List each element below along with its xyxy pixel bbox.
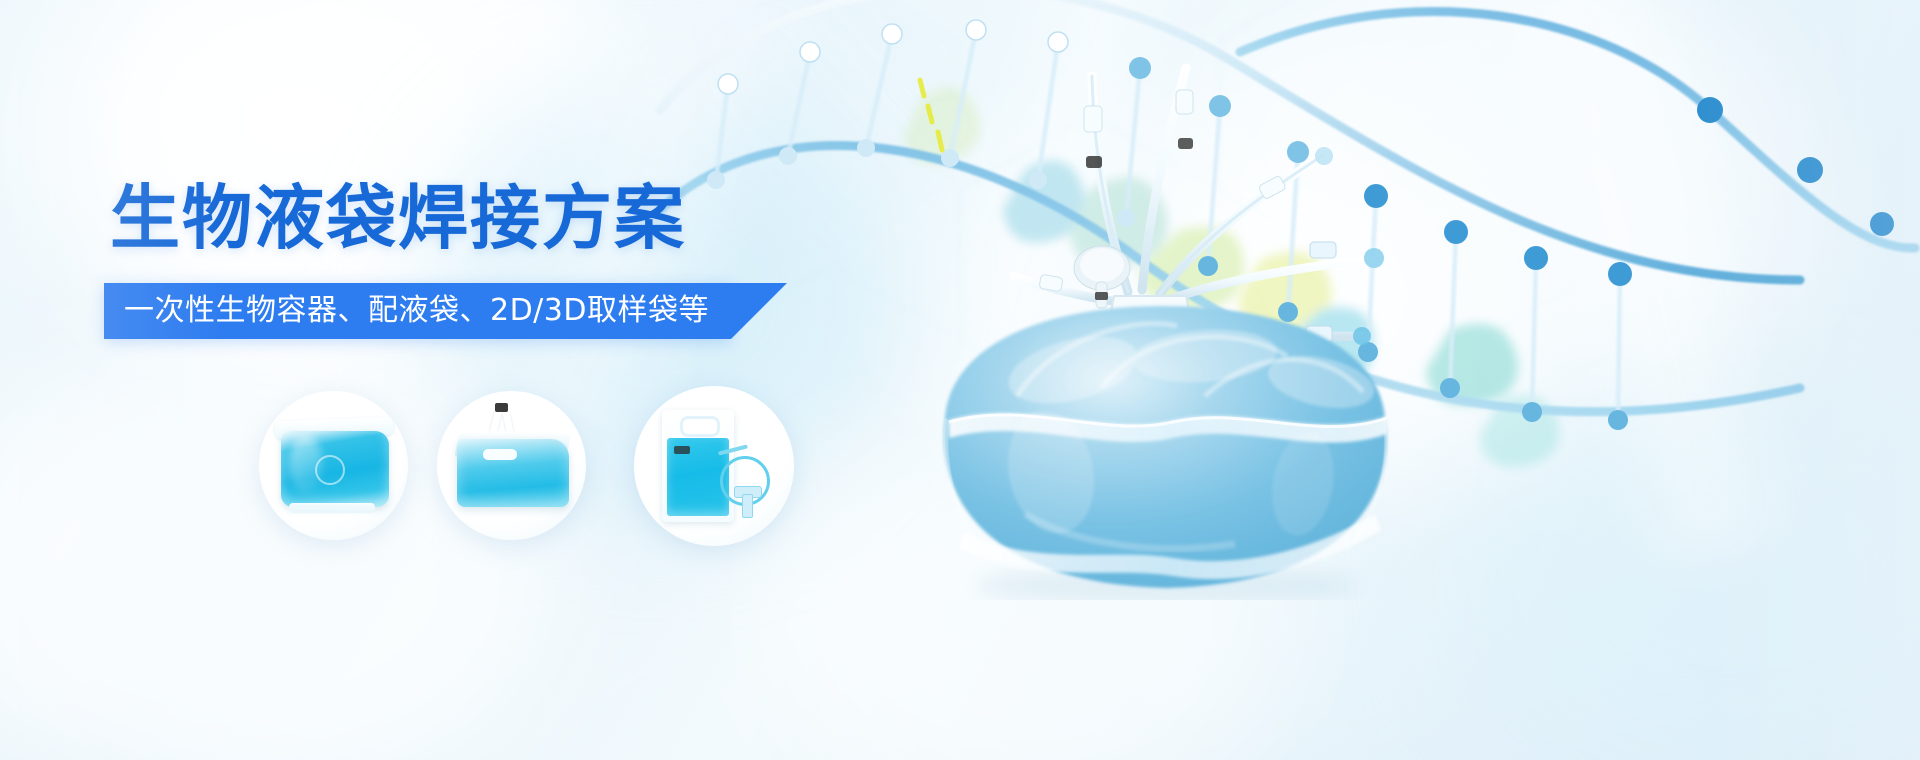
ribbon-body: 一次性生物容器、配液袋、2D/3D取样袋等: [104, 283, 731, 339]
bag-connector: [742, 494, 753, 518]
bioprocess-bag-3d: [905, 300, 1425, 600]
ribbon-label: 一次性生物容器、配液袋、2D/3D取样袋等: [124, 283, 709, 339]
product-hero-banner: 生物液袋焊接方案 一次性生物容器、配液袋、2D/3D取样袋等: [0, 0, 1920, 760]
subtitle-ribbon: 一次性生物容器、配液袋、2D/3D取样袋等: [104, 283, 731, 339]
light-streak: [1490, 0, 1810, 573]
page-title: 生物液袋焊接方案: [110, 176, 686, 260]
bag-tube-cap-icon: [495, 403, 508, 412]
light-blob: [0, 330, 560, 760]
product-thumb-sampling-bag[interactable]: [634, 386, 794, 546]
bag-clamp-icon: [674, 446, 690, 454]
bag-highlight: [289, 435, 323, 493]
bag-bottom-seal: [289, 503, 375, 513]
light-blob: [1450, 360, 1920, 760]
ribbon-arrow-icon: [731, 283, 787, 339]
product-thumb-liquid-bag[interactable]: [259, 391, 408, 540]
bag-handle-icon: [680, 416, 720, 437]
product-thumb-mixing-bag[interactable]: [437, 391, 586, 540]
bag-port: [483, 449, 517, 460]
